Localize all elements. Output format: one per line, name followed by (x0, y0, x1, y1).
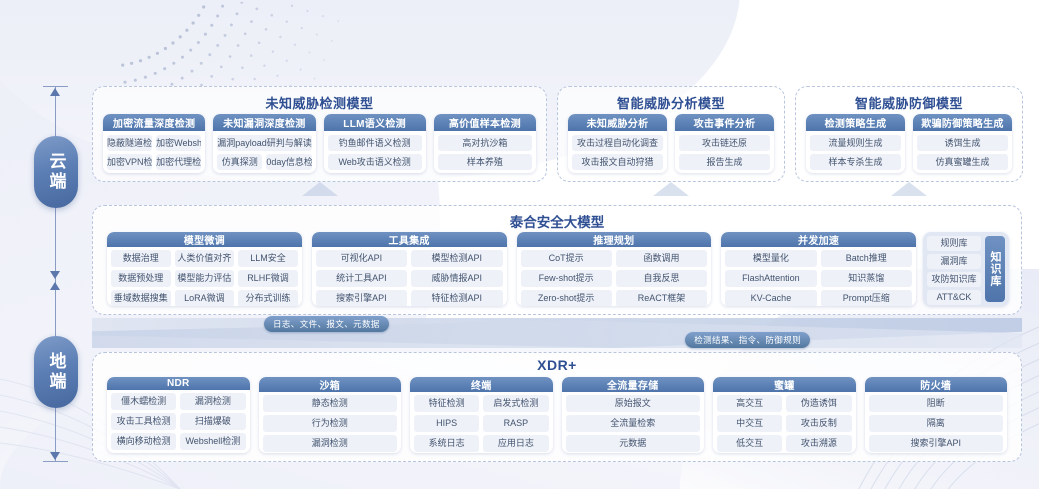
arrow-down-icon-2 (50, 452, 60, 460)
capability-card-title: 加密流量深度检测 (103, 114, 205, 131)
capability-chip[interactable]: 原始报文 (566, 395, 701, 412)
capability-chip[interactable]: 高对抗沙箱 (438, 135, 532, 151)
capability-card-body: 攻击过程自动化调查攻击报文自动狩猎 (568, 131, 667, 173)
capability-row: 流量规则生成 (810, 135, 901, 151)
model-group: 智能威胁防御模型检测策略生成流量规则生成样本专杀生成欺骗防御策略生成诱饵生成仿真… (795, 86, 1023, 182)
capability-row: 垂域数据搜集LoRA微调分布式训练 (111, 290, 298, 306)
capability-chip[interactable]: RLHF微调 (238, 270, 298, 287)
capability-card-body: 高对抗沙箱样本养殖 (434, 131, 536, 173)
capability-card[interactable]: 推理规划CoT提示函数调用Few-shot提示自我反思Zero-shot提示Re… (517, 232, 712, 306)
capability-chip[interactable]: 特征检测 (414, 395, 479, 412)
capability-row: 系统日志应用日志 (414, 435, 549, 452)
capability-row: 样本专杀生成 (810, 154, 901, 170)
capability-row: 全流量检索 (566, 415, 701, 432)
flow-label-upstream: 日志、文件、报文、元数据 (264, 316, 389, 332)
capability-card-body: 原始报文全流量检索元数据 (562, 392, 705, 453)
capability-card[interactable]: 未知漏洞深度检测漏洞payload研判与解读仿真探测0day信息检索 (213, 114, 315, 173)
cloud-models-panel: 未知威胁检测模型加密流量深度检测隐蔽隧道检测加密Webshell深度检测加密VP… (92, 86, 1022, 182)
model-group: 未知威胁检测模型加密流量深度检测隐蔽隧道检测加密Webshell深度检测加密VP… (92, 86, 547, 182)
capability-row: 隐蔽隧道检测加密Webshell深度检测 (107, 135, 201, 151)
capability-row: KV-CachePrompt压缩 (725, 290, 912, 306)
capability-card-body: 静态检测行为检测漏洞检测 (259, 392, 402, 453)
capability-card-title: 模型微调 (107, 232, 302, 247)
capability-card[interactable]: 防火墙阻断隔离搜索引擎API (865, 377, 1008, 453)
capability-row: 特征检测启发式检测 (414, 395, 549, 412)
capability-chip[interactable]: 搜索引擎API (869, 435, 1004, 452)
capability-chip[interactable]: 攻击过程自动化调查 (572, 135, 663, 151)
knowledge-base-block: 规则库漏洞库攻防知识库ATT&CK 知识库 (923, 232, 1009, 306)
capability-row: 攻击工具检测扫描爆破 (111, 413, 246, 430)
group-connector-arrow (653, 182, 689, 196)
capability-row: 统计工具API威胁情报API (316, 270, 503, 287)
capability-chip[interactable]: KV-Cache (725, 290, 816, 306)
capability-chip[interactable]: 知识蒸馏 (821, 270, 912, 287)
capability-chip[interactable]: 攻击溯源 (786, 435, 851, 452)
capability-card-body: CoT提示函数调用Few-shot提示自我反思Zero-shot提示ReACT框… (517, 247, 712, 306)
dot-pattern-decoration (88, 2, 418, 87)
knowledge-base-item[interactable]: 攻防知识库 (927, 272, 981, 287)
capability-row: 高对抗沙箱 (438, 135, 532, 151)
capability-chip[interactable]: 启发式检测 (483, 395, 548, 412)
capability-chip[interactable]: 攻击链还原 (679, 135, 770, 151)
capability-chip[interactable]: 人类价值对齐 (175, 250, 235, 267)
capability-row: 隔离 (869, 415, 1004, 432)
capability-chip[interactable]: 加密Webshell深度检测 (156, 135, 201, 151)
capability-card[interactable]: 模型微调数据治理人类价值对齐LLM安全数据预处理模型能力评估RLHF微调垂域数据… (107, 232, 302, 306)
capability-chip[interactable]: 数据治理 (111, 250, 171, 267)
capability-card[interactable]: LLM语义检测钓鱼邮件语义检测Web攻击语义检测 (324, 114, 426, 173)
capability-card-body: 隐蔽隧道检测加密Webshell深度检测加密VPN检测加密代理检测 (103, 131, 205, 173)
capability-chip[interactable]: 漏洞检测 (180, 393, 245, 410)
capability-row: 高交互伪造诱饵 (717, 395, 852, 412)
capability-chip[interactable]: 样本专杀生成 (810, 154, 901, 170)
capability-card-body: 数据治理人类价值对齐LLM安全数据预处理模型能力评估RLHF微调垂域数据搜集Lo… (107, 247, 302, 306)
capability-card-title: 工具集成 (312, 232, 507, 247)
capability-chip[interactable]: 攻击工具检测 (111, 413, 176, 430)
data-flow-band: 日志、文件、报文、元数据 检测结果、指令、防御规则 (92, 318, 1022, 348)
capability-row: 阻断 (869, 395, 1004, 412)
capability-chip[interactable]: 隐蔽隧道检测 (107, 135, 152, 151)
capability-card-body: 阻断隔离搜索引擎API (865, 392, 1008, 453)
capability-chip[interactable]: 0day信息检索 (266, 154, 311, 170)
capability-card-title: NDR (107, 377, 250, 390)
capability-row: 元数据 (566, 435, 701, 452)
capability-chip[interactable]: Few-shot提示 (521, 270, 612, 287)
capability-chip[interactable]: 仿真探测 (217, 154, 262, 170)
capability-chip[interactable]: 静态检测 (263, 395, 398, 412)
capability-chip[interactable]: 自我反思 (616, 270, 707, 287)
capability-card-body: 钓鱼邮件语义检测Web攻击语义检测 (324, 131, 426, 173)
capability-card-title: 未知威胁分析 (568, 114, 667, 131)
capability-row: Web攻击语义检测 (328, 154, 422, 170)
capability-chip[interactable]: 横向移动检测 (111, 433, 176, 450)
capability-card-title: 全流量存储 (562, 377, 705, 392)
infographic-root: 云端 地端 未知威胁检测模型加密流量深度检测隐蔽隧道检测加密Webshell深度… (0, 0, 1039, 489)
arrow-up-icon (50, 88, 60, 96)
capability-chip[interactable]: 数据预处理 (111, 270, 171, 287)
capability-chip[interactable]: 僵木蠕检测 (111, 393, 176, 410)
capability-chip[interactable]: 流量规则生成 (810, 135, 901, 151)
capability-chip[interactable]: 垂域数据搜集 (111, 290, 171, 306)
capability-row: 加密VPN检测加密代理检测 (107, 154, 201, 170)
capability-row: 低交互攻击溯源 (717, 435, 852, 452)
capability-row: CoT提示函数调用 (521, 250, 708, 267)
capability-chip[interactable]: Zero-shot提示 (521, 290, 612, 306)
capability-chip[interactable]: 统计工具API (316, 270, 407, 287)
capability-chip[interactable]: 加密VPN检测 (107, 154, 152, 170)
capability-card-body: 模型量化Batch推理FlashAttention知识蒸馏KV-CachePro… (721, 247, 916, 306)
capability-chip[interactable]: 钓鱼邮件语义检测 (328, 135, 422, 151)
capability-card[interactable]: 全流量存储原始报文全流量检索元数据 (562, 377, 705, 453)
capability-chip[interactable]: 全流量检索 (566, 415, 701, 432)
capability-row: FlashAttention知识蒸馏 (725, 270, 912, 287)
capability-chip[interactable]: CoT提示 (521, 250, 612, 267)
knowledge-base-item[interactable]: ATT&CK (927, 290, 981, 305)
capability-chip[interactable]: 漏洞检测 (263, 435, 398, 452)
knowledge-base-label: 知识库 (985, 236, 1005, 302)
capability-card-title: LLM语义检测 (324, 114, 426, 131)
capability-row: 漏洞检测 (263, 435, 398, 452)
capability-chip[interactable]: 隔离 (869, 415, 1004, 432)
capability-card-body: 漏洞payload研判与解读仿真探测0day信息检索 (213, 131, 315, 173)
capability-card-body: 诱饵生成仿真蜜罐生成 (913, 131, 1012, 173)
rail-cap-bottom (43, 461, 68, 462)
capability-card-title: 蜜罐 (713, 377, 856, 392)
capability-row: 仿真蜜罐生成 (917, 154, 1008, 170)
capability-card[interactable]: 欺骗防御策略生成诱饵生成仿真蜜罐生成 (913, 114, 1012, 173)
capability-chip[interactable]: ReACT框架 (616, 290, 707, 306)
capability-row: 报告生成 (679, 154, 770, 170)
capability-card-title: 欺骗防御策略生成 (913, 114, 1012, 131)
capability-chip[interactable]: 元数据 (566, 435, 701, 452)
capability-chip[interactable]: 漏洞payload研判与解读 (217, 135, 311, 151)
capability-chip[interactable]: Prompt压缩 (821, 290, 912, 306)
arrow-down-icon (50, 271, 60, 279)
capability-row: 钓鱼邮件语义检测 (328, 135, 422, 151)
arrow-up-icon-2 (50, 282, 60, 290)
capability-chip[interactable]: Webshell检测 (180, 433, 245, 450)
capability-chip[interactable]: 系统日志 (414, 435, 479, 452)
capability-card[interactable]: 未知威胁分析攻击过程自动化调查攻击报文自动狩猎 (568, 114, 667, 173)
capability-card[interactable]: 蜜罐高交互伪造诱饵中交互攻击反制低交互攻击溯源 (713, 377, 856, 453)
capability-card[interactable]: NDR僵木蠕检测漏洞检测攻击工具检测扫描爆破横向移动检测Webshell检测 (107, 377, 250, 453)
capability-chip[interactable]: 样本养殖 (438, 154, 532, 170)
capability-chip[interactable]: 行为检测 (263, 415, 398, 432)
layer-rail: 云端 地端 (30, 86, 82, 462)
capability-chip[interactable]: 扫描爆破 (180, 413, 245, 430)
capability-card-title: 防火墙 (865, 377, 1008, 392)
layer-label-cloud: 云端 (34, 136, 78, 208)
capability-card-title: 攻击事件分析 (675, 114, 774, 131)
capability-chip[interactable]: Web攻击语义检测 (328, 154, 422, 170)
capability-card-title: 沙箱 (259, 377, 402, 392)
capability-chip[interactable]: 函数调用 (616, 250, 707, 267)
capability-row: 模型量化Batch推理 (725, 250, 912, 267)
capability-row: 仿真探测0day信息检索 (217, 154, 311, 170)
capability-card-body: 高交互伪造诱饵中交互攻击反制低交互攻击溯源 (713, 392, 856, 453)
capability-row: 搜索引擎API特征检测API (316, 290, 503, 306)
capability-chip[interactable]: 伪造诱饵 (786, 395, 851, 412)
capability-card-body: 流量规则生成样本专杀生成 (806, 131, 905, 173)
capability-chip[interactable]: 高交互 (717, 395, 782, 412)
capability-row: 行为检测 (263, 415, 398, 432)
capability-row: 攻击链还原 (679, 135, 770, 151)
capability-card-body: 特征检测启发式检测HIPSRASP系统日志应用日志 (410, 392, 553, 453)
capability-row: 僵木蠕检测漏洞检测 (111, 393, 246, 410)
capability-chip[interactable]: 模型检测API (411, 250, 502, 267)
capability-row: 攻击报文自动狩猎 (572, 154, 663, 170)
model-group-cards: 未知威胁分析攻击过程自动化调查攻击报文自动狩猎攻击事件分析攻击链还原报告生成 (568, 114, 774, 173)
xdr-title: XDR+ (93, 357, 1021, 373)
capability-card[interactable]: 沙箱静态检测行为检测漏洞检测 (259, 377, 402, 453)
capability-row: 中交互攻击反制 (717, 415, 852, 432)
capability-card-title: 检测策略生成 (806, 114, 905, 131)
capability-card[interactable]: 检测策略生成流量规则生成样本专杀生成 (806, 114, 905, 173)
capability-card[interactable]: 并发加速模型量化Batch推理FlashAttention知识蒸馏KV-Cach… (721, 232, 916, 306)
capability-row: 原始报文 (566, 395, 701, 412)
capability-row: 诱饵生成 (917, 135, 1008, 151)
capability-card-title: 未知漏洞深度检测 (213, 114, 315, 131)
capability-row: 样本养殖 (438, 154, 532, 170)
capability-chip[interactable]: 分布式训练 (238, 290, 298, 306)
knowledge-base-item[interactable]: 规则库 (927, 236, 981, 251)
model-group-title: 智能威胁防御模型 (796, 93, 1022, 112)
capability-row: Zero-shot提示ReACT框架 (521, 290, 708, 306)
model-group-title: 智能威胁分析模型 (558, 93, 784, 112)
group-connector-arrow (891, 182, 927, 196)
capability-row: 可视化API模型检测API (316, 250, 503, 267)
capability-card-title: 终端 (410, 377, 553, 392)
capability-chip[interactable]: 阻断 (869, 395, 1004, 412)
capability-row: 数据治理人类价值对齐LLM安全 (111, 250, 298, 267)
capability-card-body: 僵木蠕检测漏洞检测攻击工具检测扫描爆破横向移动检测Webshell检测 (107, 390, 250, 453)
capability-chip[interactable]: 诱饵生成 (917, 135, 1008, 151)
capability-chip[interactable]: 可视化API (316, 250, 407, 267)
model-group-cards: 检测策略生成流量规则生成样本专杀生成欺骗防御策略生成诱饵生成仿真蜜罐生成 (806, 114, 1012, 173)
capability-chip[interactable]: 低交互 (717, 435, 782, 452)
capability-chip[interactable]: LLM安全 (238, 250, 298, 267)
knowledge-base-item-list: 规则库漏洞库攻防知识库ATT&CK (927, 236, 981, 302)
capability-chip[interactable]: 模型量化 (725, 250, 816, 267)
big-model-panel: 泰合安全大模型 模型微调数据治理人类价值对齐LLM安全数据预处理模型能力评估RL… (92, 205, 1022, 315)
capability-card-body: 可视化API模型检测API统计工具API威胁情报API搜索引擎API特征检测AP… (312, 247, 507, 306)
capability-card[interactable]: 终端特征检测启发式检测HIPSRASP系统日志应用日志 (410, 377, 553, 453)
big-model-title: 泰合安全大模型 (93, 211, 1021, 231)
capability-chip[interactable]: 报告生成 (679, 154, 770, 170)
capability-chip[interactable]: 应用日志 (483, 435, 548, 452)
capability-chip[interactable]: 加密代理检测 (156, 154, 201, 170)
capability-chip[interactable]: 特征检测API (411, 290, 502, 306)
model-group: 智能威胁分析模型未知威胁分析攻击过程自动化调查攻击报文自动狩猎攻击事件分析攻击链… (557, 86, 785, 182)
capability-row: HIPSRASP (414, 415, 549, 432)
capability-card-body: 攻击链还原报告生成 (675, 131, 774, 173)
model-group-title: 未知威胁检测模型 (93, 93, 546, 112)
capability-chip[interactable]: HIPS (414, 415, 479, 432)
rail-cap-top (43, 86, 68, 87)
capability-card-title: 并发加速 (721, 232, 916, 247)
big-model-card-list: 模型微调数据治理人类价值对齐LLM安全数据预处理模型能力评估RLHF微调垂域数据… (107, 232, 916, 306)
capability-card-title: 高价值样本检测 (434, 114, 536, 131)
capability-chip[interactable]: RASP (483, 415, 548, 432)
capability-card[interactable]: 工具集成可视化API模型检测API统计工具API威胁情报API搜索引擎API特征… (312, 232, 507, 306)
xdr-panel: XDR+ NDR僵木蠕检测漏洞检测攻击工具检测扫描爆破横向移动检测Webshel… (92, 352, 1022, 462)
layer-label-ground: 地端 (34, 336, 78, 408)
capability-chip[interactable]: 威胁情报API (411, 270, 502, 287)
capability-row: 横向移动检测Webshell检测 (111, 433, 246, 450)
capability-chip[interactable]: 中交互 (717, 415, 782, 432)
capability-card[interactable]: 加密流量深度检测隐蔽隧道检测加密Webshell深度检测加密VPN检测加密代理检… (103, 114, 205, 173)
group-connector-arrow (302, 182, 338, 196)
model-group-cards: 加密流量深度检测隐蔽隧道检测加密Webshell深度检测加密VPN检测加密代理检… (103, 114, 536, 173)
capability-row: 静态检测 (263, 395, 398, 412)
capability-chip[interactable]: 搜索引擎API (316, 290, 407, 306)
capability-chip[interactable]: LoRA微调 (175, 290, 235, 306)
xdr-card-list: NDR僵木蠕检测漏洞检测攻击工具检测扫描爆破横向移动检测Webshell检测沙箱… (107, 377, 1007, 453)
capability-card[interactable]: 攻击事件分析攻击链还原报告生成 (675, 114, 774, 173)
capability-card-title: 推理规划 (517, 232, 712, 247)
capability-row: 搜索引擎API (869, 435, 1004, 452)
capability-row: 漏洞payload研判与解读 (217, 135, 311, 151)
capability-row: 数据预处理模型能力评估RLHF微调 (111, 270, 298, 287)
capability-chip[interactable]: 攻击报文自动狩猎 (572, 154, 663, 170)
capability-chip[interactable]: 模型能力评估 (175, 270, 235, 287)
capability-chip[interactable]: FlashAttention (725, 270, 816, 287)
capability-row: 攻击过程自动化调查 (572, 135, 663, 151)
flow-label-downstream: 检测结果、指令、防御规则 (685, 332, 810, 348)
capability-chip[interactable]: 攻击反制 (786, 415, 851, 432)
capability-chip[interactable]: 仿真蜜罐生成 (917, 154, 1008, 170)
capability-card[interactable]: 高价值样本检测高对抗沙箱样本养殖 (434, 114, 536, 173)
capability-chip[interactable]: Batch推理 (821, 250, 912, 267)
capability-row: Few-shot提示自我反思 (521, 270, 708, 287)
knowledge-base-item[interactable]: 漏洞库 (927, 254, 981, 269)
